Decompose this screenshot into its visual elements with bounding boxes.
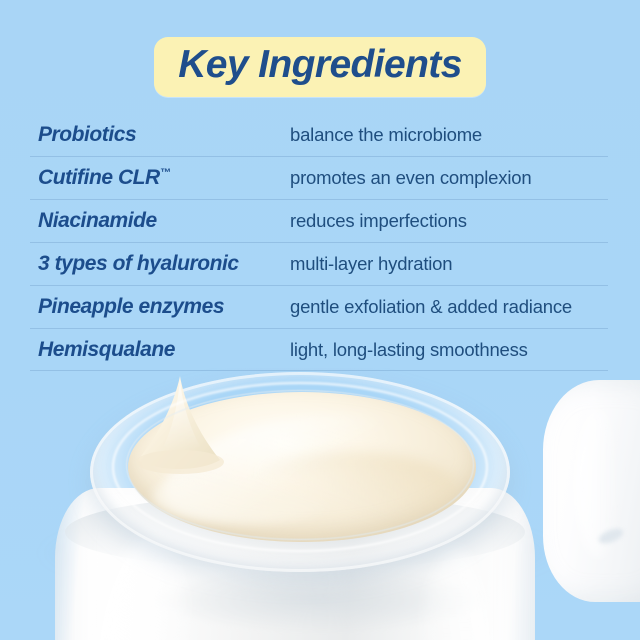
ingredient-benefit: reduces imperfections xyxy=(290,210,608,232)
table-row: Niacinamide reduces imperfections xyxy=(30,199,608,242)
ingredients-table: Probiotics balance the microbiome Cutifi… xyxy=(30,113,608,371)
trademark-symbol: ™ xyxy=(160,167,171,179)
ingredient-benefit: balance the microbiome xyxy=(290,124,608,146)
table-row: Pineapple enzymes gentle exfoliation & a… xyxy=(30,285,608,328)
table-row: Hemisqualane light, long-lasting smoothn… xyxy=(30,328,608,371)
ingredient-benefit: light, long-lasting smoothness xyxy=(290,339,608,361)
ingredient-name: Probiotics xyxy=(30,123,290,147)
table-row: Cutifine CLR™ promotes an even complexio… xyxy=(30,156,608,199)
product-infographic: Key Ingredients Probiotics balance the m… xyxy=(0,0,640,640)
page-title: Key Ingredients xyxy=(0,37,640,97)
rim-highlight xyxy=(126,390,474,540)
title-text: Key Ingredients xyxy=(178,43,462,87)
ingredient-name: Cutifine CLR™ xyxy=(30,166,290,190)
ingredient-benefit: promotes an even complexion xyxy=(290,167,608,189)
ingredient-benefit: gentle exfoliation & added radiance xyxy=(290,296,608,318)
ingredient-benefit: multi-layer hydration xyxy=(290,253,608,275)
title-badge: Key Ingredients xyxy=(154,37,486,97)
ingredient-name: Hemisqualane xyxy=(30,338,290,362)
ingredient-name: Niacinamide xyxy=(30,209,290,233)
product-photo xyxy=(0,368,640,640)
table-row: 3 types of hyaluronic multi-layer hydrat… xyxy=(30,242,608,285)
table-row: Probiotics balance the microbiome xyxy=(30,113,608,156)
ingredient-name: Pineapple enzymes xyxy=(30,295,290,319)
ingredient-name: 3 types of hyaluronic xyxy=(30,252,290,276)
